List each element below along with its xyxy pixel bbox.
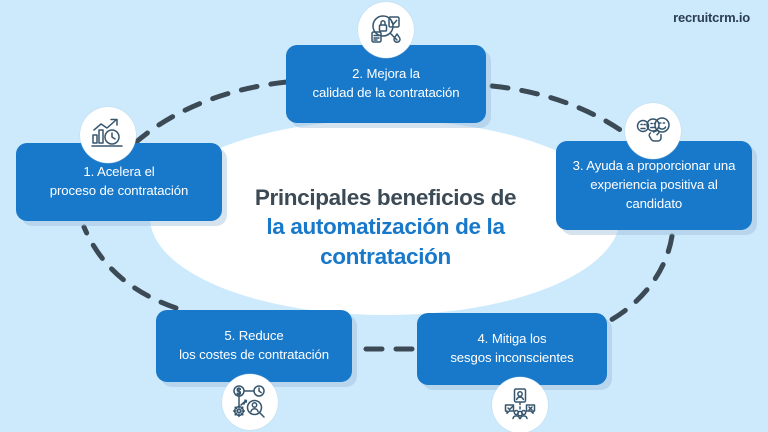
infographic-canvas: recruitcrm.io Principales beneficios de … — [0, 0, 768, 432]
dash-arc-1-2 — [135, 82, 287, 143]
benefit-card-1-label: 1. Acelera el proceso de contratación — [50, 163, 188, 200]
dash-arc-5-1 — [84, 227, 176, 308]
benefit-card-2-label: 2. Mejora la calidad de la contratación — [313, 65, 460, 102]
benefit-card-5[interactable]: 5. Reduce los costes de contratación — [156, 310, 352, 382]
benefit-card-3-label: 3. Ayuda a proporcionar una experiencia … — [573, 157, 736, 213]
page-title: Principales beneficios de la automatizac… — [198, 183, 573, 271]
magnifier-checklist-icon — [358, 2, 414, 58]
recruitcrm-logo: recruitcrm.io — [673, 10, 750, 25]
cost-time-network-icon — [222, 374, 278, 430]
satisfaction-faces-icon — [625, 103, 681, 159]
benefit-card-4[interactable]: 4. Mitiga los sesgos inconscientes — [417, 313, 607, 385]
candidate-approval-icon — [492, 377, 548, 432]
growth-chart-clock-icon — [80, 107, 136, 163]
dash-arc-2-3 — [492, 86, 638, 143]
benefit-card-4-label: 4. Mitiga los sesgos inconscientes — [450, 330, 573, 367]
page-title-line-2: la automatización de la — [198, 212, 573, 241]
page-title-line-1: Principales beneficios de — [198, 183, 573, 212]
benefit-card-5-label: 5. Reduce los costes de contratación — [179, 327, 329, 364]
page-title-line-3: contratación — [198, 242, 573, 271]
